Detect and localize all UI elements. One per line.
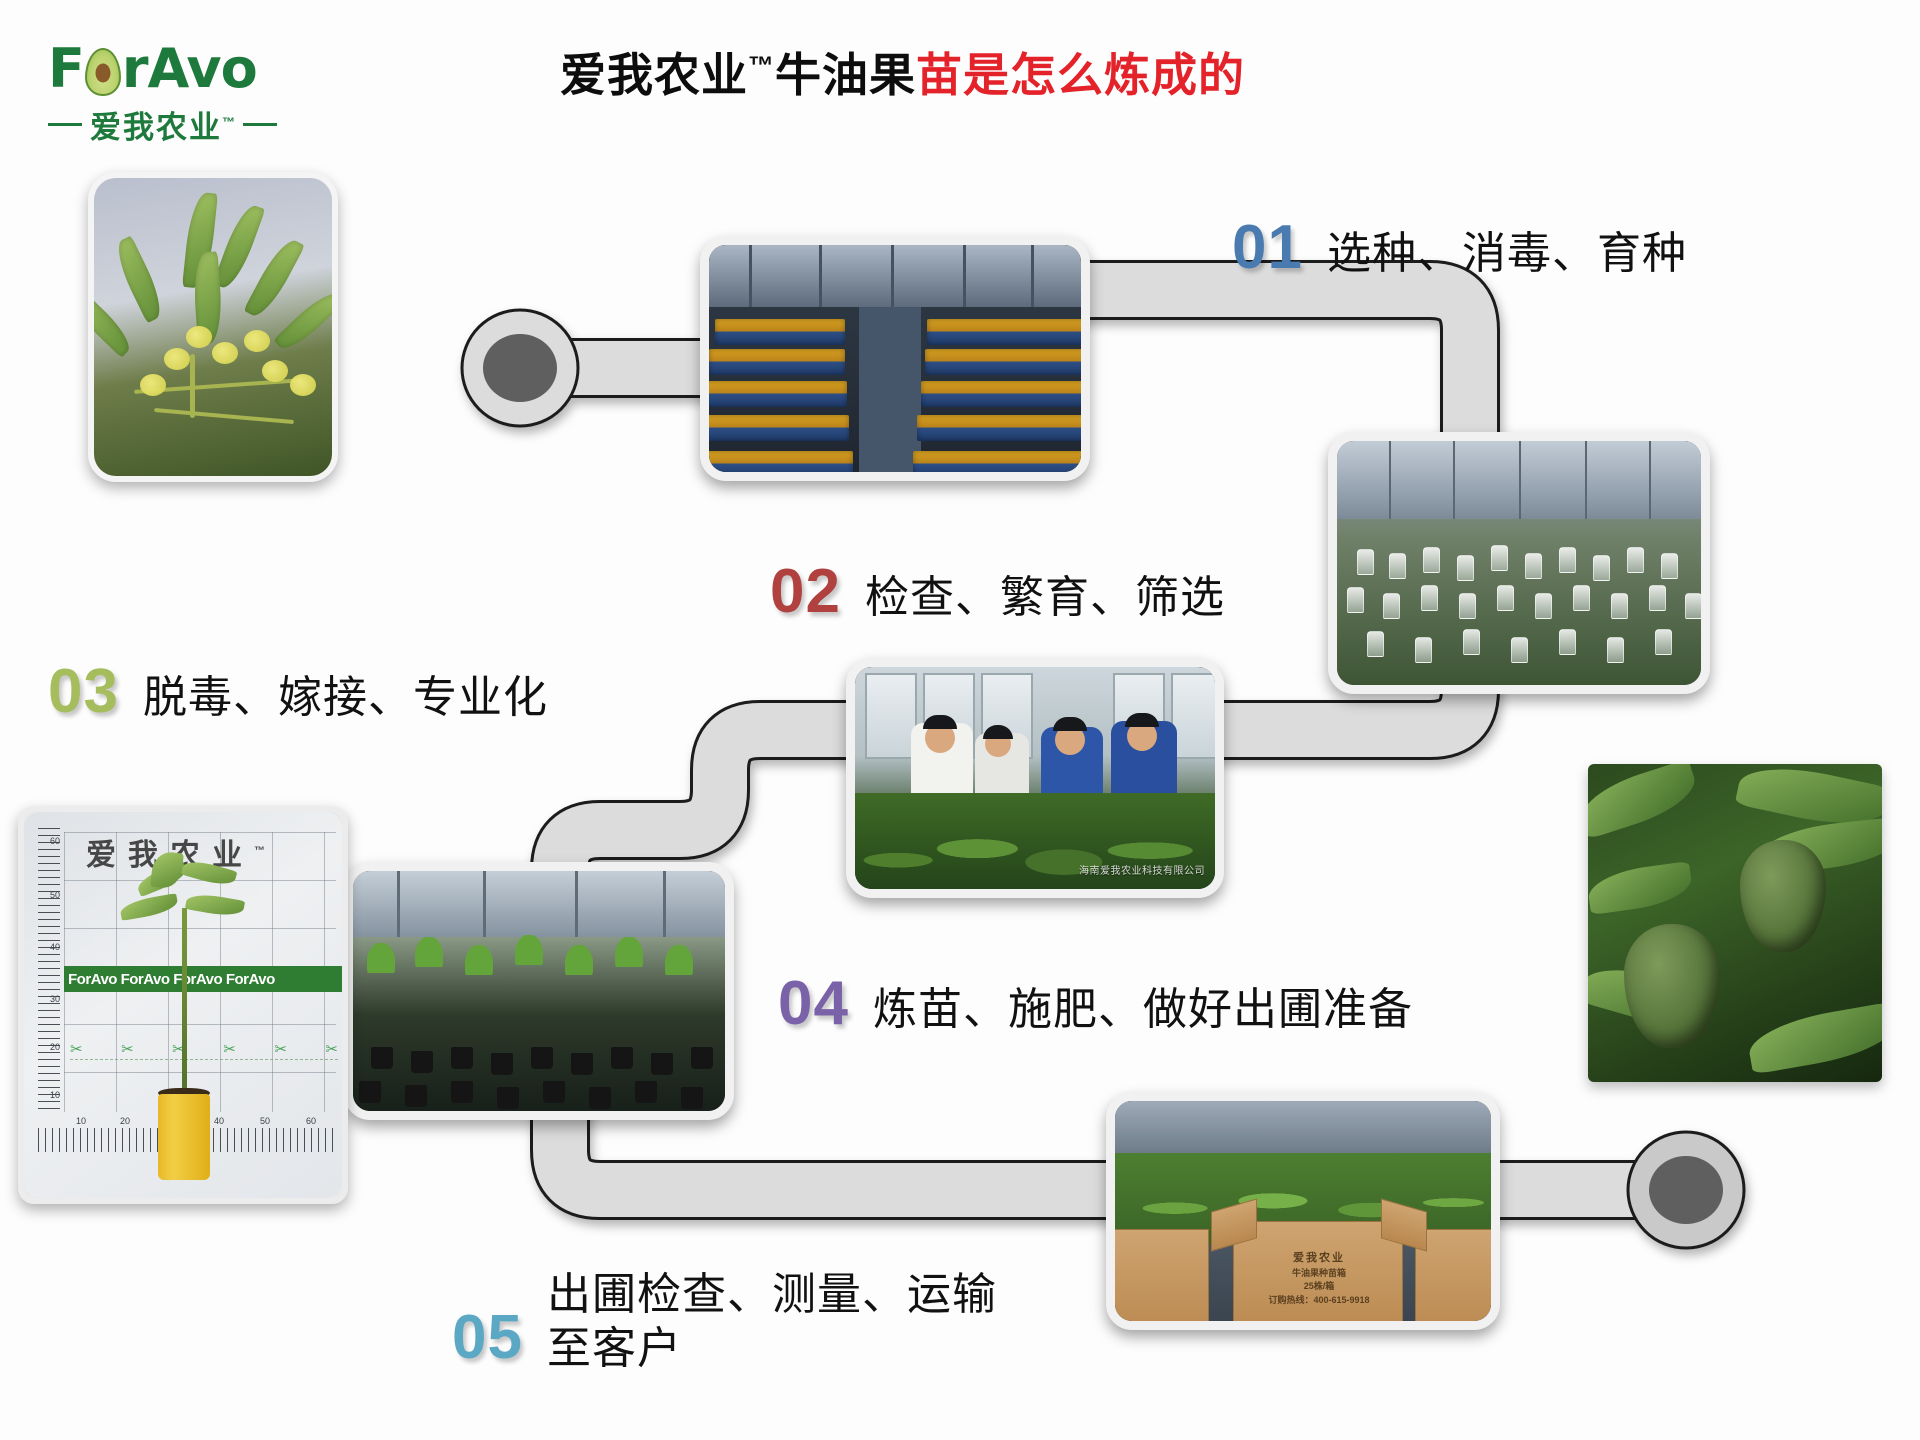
step-05-label: 05 出圃检查、测量、运输 至客户 bbox=[452, 1268, 997, 1375]
step-01-text: 选种、消毒、育种 bbox=[1327, 227, 1687, 281]
step-04-number: 04 bbox=[778, 968, 849, 1039]
step-05-text: 出圃检查、测量、运输 至客户 bbox=[547, 1268, 997, 1375]
ruler-tick-h-3: 40 bbox=[214, 1116, 224, 1126]
board-cut-line: ✂✂✂✂✂✂ bbox=[70, 1040, 338, 1060]
greenhouse-bagged-grafts-photo bbox=[1328, 432, 1710, 694]
seed-germination-trays-photo bbox=[700, 236, 1090, 481]
avocado-fruit-on-tree-photo bbox=[1588, 764, 1882, 1082]
logo-wordmark-post: rAvo bbox=[122, 37, 257, 100]
page-title: 爱我农业™牛油果苗是怎么炼成的 bbox=[560, 48, 1510, 103]
title-black-2: 牛油果 bbox=[775, 49, 916, 101]
photo-watermark: 海南爱我农业科技有限公司 bbox=[1079, 862, 1205, 877]
ruler-tick-v-2: 40 bbox=[50, 942, 60, 952]
ruler-tick-v-1: 50 bbox=[50, 890, 60, 900]
logo-chinese-name: 爱我农业™ bbox=[90, 102, 235, 147]
step-03-text: 脱毒、嫁接、专业化 bbox=[143, 671, 548, 725]
ruler-tick-h-4: 50 bbox=[260, 1116, 270, 1126]
ruler-tick-h-1: 20 bbox=[120, 1116, 130, 1126]
box-label: 爱我农业 牛油果种苗箱 25株/箱 订购热线：400-615-9918 bbox=[1243, 1250, 1395, 1307]
logo-wordmark-pre: F bbox=[48, 37, 84, 100]
title-tm-mark: ™ bbox=[748, 51, 775, 81]
step-02-number: 02 bbox=[770, 556, 841, 627]
avocado-icon bbox=[85, 48, 121, 96]
logo-subtitle-row: 爱我农业™ bbox=[48, 102, 338, 147]
staff-inspecting-seedlings-photo: 海南爱我农业科技有限公司 bbox=[846, 658, 1224, 898]
logo-rule-left bbox=[48, 123, 82, 126]
step-05-number: 05 bbox=[452, 1302, 523, 1373]
title-black-1: 爱我农业 bbox=[560, 49, 748, 101]
ruler-tick-v-0: 60 bbox=[50, 836, 60, 846]
logo-wordmark: F rAvo bbox=[48, 38, 338, 100]
ruler-tick-v-3: 30 bbox=[50, 994, 60, 1004]
ruler-tick-v-5: 10 bbox=[50, 1090, 60, 1100]
logo-tm-mark: ™ bbox=[222, 115, 235, 130]
vertical-ruler bbox=[38, 828, 60, 1114]
step-02-text: 检查、繁育、筛选 bbox=[865, 571, 1225, 625]
board-foravo-band: ForAvo ForAvo ForAvo ForAvo bbox=[64, 966, 342, 992]
ruler-tick-h-5: 60 bbox=[306, 1116, 316, 1126]
packed-boxes-shipping-photo: 爱我农业 牛油果种苗箱 25株/箱 订购热线：400-615-9918 bbox=[1106, 1092, 1500, 1330]
infographic-canvas: F rAvo 爱我农业™ 爱我农业™牛油果苗是怎么炼成的 bbox=[0, 0, 1920, 1440]
title-red-highlight: 苗是怎么炼成的 bbox=[916, 49, 1245, 101]
step-04-text: 炼苗、施肥、做好出圃准备 bbox=[873, 983, 1413, 1037]
step-04-label: 04 炼苗、施肥、做好出圃准备 bbox=[778, 968, 1413, 1039]
ruler-tick-h-0: 10 bbox=[76, 1116, 86, 1126]
logo-rule-right bbox=[243, 123, 277, 126]
step-01-label: 01 选种、消毒、育种 bbox=[1232, 212, 1687, 283]
seedling-measurement-board-photo: 60 50 40 30 20 10 10 20 30 40 50 60 爱我农业… bbox=[18, 806, 348, 1204]
ruler-tick-v-4: 20 bbox=[50, 1042, 60, 1052]
avocado-flowering-branch-photo bbox=[88, 172, 338, 482]
step-01-number: 01 bbox=[1232, 212, 1303, 283]
step-03-label: 03 脱毒、嫁接、专业化 bbox=[48, 656, 548, 727]
step-02-label: 02 检查、繁育、筛选 bbox=[770, 556, 1225, 627]
potted-seedling-rows-photo bbox=[344, 862, 734, 1120]
step-03-number: 03 bbox=[48, 656, 119, 727]
brand-logo: F rAvo 爱我农业™ bbox=[48, 38, 338, 148]
